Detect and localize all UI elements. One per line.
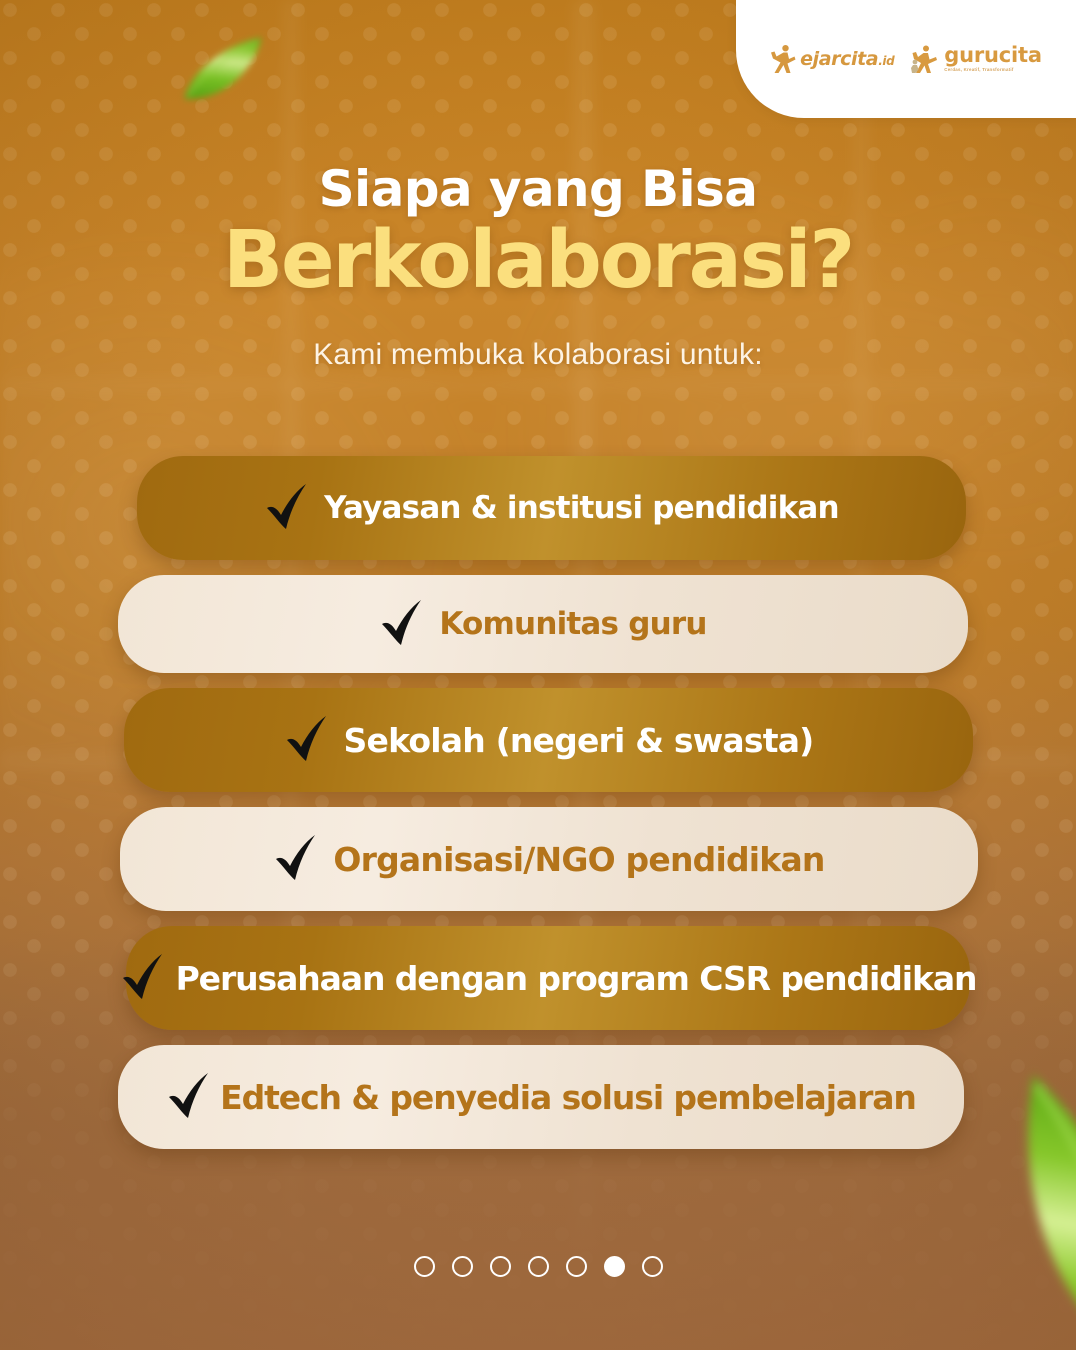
kejarcita-mark-icon (770, 44, 796, 74)
checkmark-icon (264, 481, 310, 535)
pagination-dot[interactable] (642, 1256, 663, 1277)
pagination-dot[interactable] (452, 1256, 473, 1277)
list-item[interactable]: Yayasan & institusi pendidikan (137, 456, 966, 560)
pagination-dots[interactable] (0, 1256, 1076, 1277)
page-subtitle: Kami membuka kolaborasi untuk: (0, 338, 1076, 372)
pagination-dot[interactable] (490, 1256, 511, 1277)
list-item[interactable]: Komunitas guru (118, 575, 968, 673)
header-block: Siapa yang Bisa Berkolaborasi? Kami memb… (0, 163, 1076, 372)
list-item-label: Edtech & penyedia solusi pembelajaran (220, 1078, 916, 1117)
page-title-line2: Berkolaborasi? (0, 221, 1076, 300)
pagination-dot[interactable] (566, 1256, 587, 1277)
gurucita-tagline: Cerdas, Kreatif, Transformatif (944, 68, 1042, 72)
checkmark-icon (120, 951, 166, 1005)
poster-canvas: ejarcita.id gurucita Cerdas, Kreatif, Tr… (0, 0, 1076, 1350)
kejarcita-logo[interactable]: ejarcita.id (770, 44, 894, 74)
list-item[interactable]: Perusahaan dengan program CSR pendidikan (126, 926, 970, 1030)
pagination-dot[interactable] (528, 1256, 549, 1277)
checkmark-icon (166, 1070, 212, 1124)
checkmark-icon (284, 713, 330, 767)
list-item[interactable]: Organisasi/NGO pendidikan (120, 807, 978, 911)
kejarcita-wordmark: ejarcita.id (800, 48, 894, 70)
collaboration-list: Yayasan & institusi pendidikan Komunitas… (0, 456, 1076, 1164)
pagination-dot-active[interactable] (604, 1256, 625, 1277)
gurucita-mark-icon (910, 44, 940, 74)
list-item-label: Yayasan & institusi pendidikan (324, 490, 839, 526)
page-title-line1: Siapa yang Bisa (0, 163, 1076, 215)
pagination-dot[interactable] (414, 1256, 435, 1277)
checkmark-icon (379, 597, 425, 651)
gurucita-wordmark: gurucita (944, 45, 1042, 66)
checkmark-icon (273, 832, 319, 886)
list-item-label: Organisasi/NGO pendidikan (333, 840, 824, 879)
list-item-label: Sekolah (negeri & swasta) (344, 721, 814, 760)
list-item[interactable]: Sekolah (negeri & swasta) (124, 688, 973, 792)
list-item-label: Perusahaan dengan program CSR pendidikan (176, 959, 977, 998)
gurucita-logo[interactable]: gurucita Cerdas, Kreatif, Transformatif (910, 44, 1042, 74)
list-item-label: Komunitas guru (439, 606, 706, 642)
list-item[interactable]: Edtech & penyedia solusi pembelajaran (118, 1045, 964, 1149)
brand-logo-plate: ejarcita.id gurucita Cerdas, Kreatif, Tr… (736, 0, 1076, 118)
